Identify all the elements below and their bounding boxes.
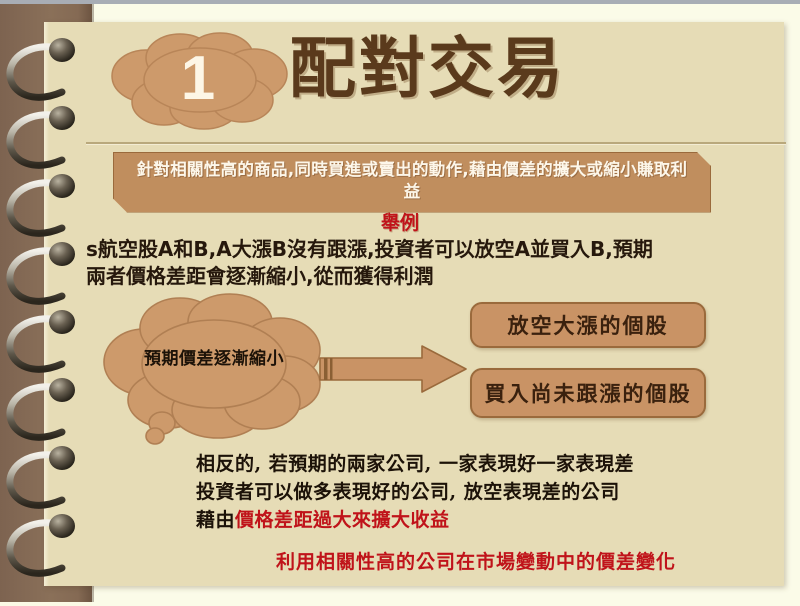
action-box-long[interactable]: 買入尚未跟漲的個股 <box>470 368 706 418</box>
flow-arrow <box>318 344 468 394</box>
closing-line: 利用相關性高的公司在市場變動中的價差變化 <box>196 547 756 574</box>
action-box-short[interactable]: 放空大漲的個股 <box>470 302 706 348</box>
bottom-line-3: 藉由價格差距過大來擴大收益 <box>196 506 756 534</box>
presentation-slide: 1 配對交易 針對相關性高的商品,同時買進或賣出的動作,藉由價差的擴大或縮小賺取… <box>0 0 800 606</box>
right-arrow-icon <box>318 344 468 394</box>
bottom-line-1-black: 相反的, 若預期的兩家公司, 一家表現好一家表現差 <box>196 453 634 475</box>
bottom-line-2-black: 投資者可以做多表現好的公司, 放空表現差的公司 <box>196 481 620 503</box>
title-divider <box>86 142 786 144</box>
thought-bubble-icon <box>98 292 330 452</box>
page-edge-highlight <box>44 22 49 586</box>
example-label: 舉例 <box>0 208 800 235</box>
example-body: s航空股A和B,A大漲B沒有跟漲,投資者可以放空A並買入B,預期 兩者價格差距會… <box>86 236 746 290</box>
summary-banner: 針對相關性高的商品,同時買進或賣出的動作,藉由價差的擴大或縮小賺取利益 <box>113 152 711 213</box>
example-line-1: s航空股A和B,A大漲B沒有跟漲,投資者可以放空A並買入B,預期 <box>86 236 746 263</box>
bottom-line-3-red: 價格差距過大來擴大收益 <box>235 509 450 531</box>
thought-bubble: 預期價差逐漸縮小 <box>98 292 330 452</box>
example-line-2: 兩者價格差距會逐漸縮小,從而獲得利潤 <box>86 263 746 290</box>
bottom-narrative: 相反的, 若預期的兩家公司, 一家表現好一家表現差 投資者可以做多表現好的公司,… <box>196 450 756 534</box>
slide-number-badge: 1 <box>104 32 292 130</box>
bottom-line-2: 投資者可以做多表現好的公司, 放空表現差的公司 <box>196 478 756 506</box>
bottom-line-3-black: 藉由 <box>196 509 235 531</box>
bottom-line-1: 相反的, 若預期的兩家公司, 一家表現好一家表現差 <box>196 450 756 478</box>
thought-bubble-label: 預期價差逐漸縮小 <box>98 344 330 369</box>
page-title: 配對交易 <box>290 36 566 102</box>
slide-number-text: 1 <box>104 32 292 130</box>
